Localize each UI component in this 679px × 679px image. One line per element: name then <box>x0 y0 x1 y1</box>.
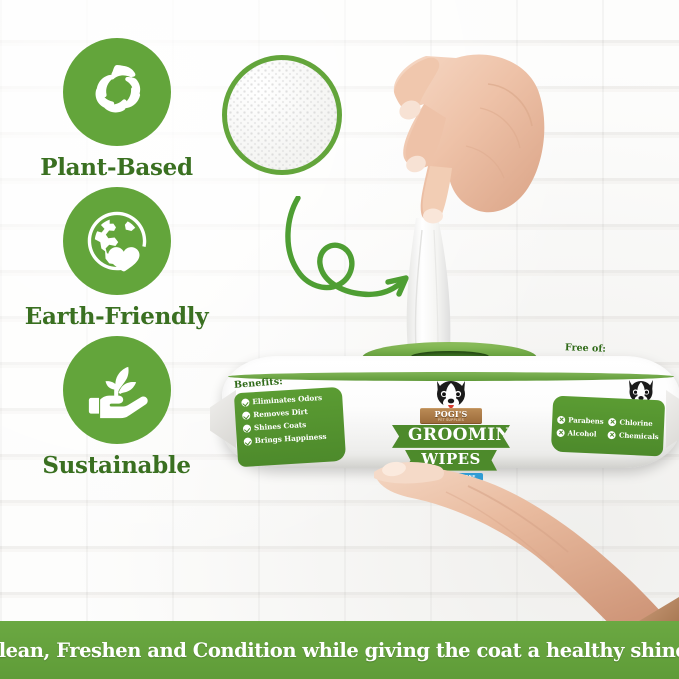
check-icon <box>242 411 250 419</box>
benefit-item: Shines Coats <box>243 419 338 433</box>
benefit-item: Removes Dirt <box>242 406 337 420</box>
feature-plant-based: Plant-Based <box>14 38 219 181</box>
brand-name: POGI'S <box>435 410 468 418</box>
benefit-label: Brings Happiness <box>255 433 327 445</box>
brand-tagline: PET SUPPLIES <box>438 419 464 422</box>
globe-heart-icon <box>81 205 153 277</box>
hand-pulling-wipe <box>338 38 553 378</box>
feature-earth-friendly: Earth-Friendly <box>14 187 219 330</box>
wipe-sheet <box>407 218 451 350</box>
free-of-item: Chlorine <box>608 417 659 428</box>
benefit-item: Brings Happiness <box>244 432 339 446</box>
benefit-item: Eliminates Odors <box>241 393 336 407</box>
benefit-label: Eliminates Odors <box>252 394 322 406</box>
package-right-seam <box>666 390 679 448</box>
hand-holding-package <box>372 452 679 637</box>
free-of-item: Alcohol <box>556 428 604 439</box>
free-of-list: Parabens Chlorine Alcohol Chemicals <box>556 415 659 441</box>
wipe-texture-pattern <box>227 60 337 170</box>
hand <box>394 55 545 224</box>
benefits-panel: Eliminates Odors Removes Dirt Shines Coa… <box>234 387 346 467</box>
benefits-list: Eliminates Odors Removes Dirt Shines Coa… <box>241 393 339 446</box>
feature-icon-circle <box>63 38 171 146</box>
banner-text: Clean, Freshen and Condition while givin… <box>0 639 679 662</box>
feature-label: Sustainable <box>42 452 190 479</box>
check-icon <box>243 424 251 432</box>
hand-sprout-icon <box>81 354 153 426</box>
free-of-panel: Parabens Chlorine Alcohol Chemicals <box>551 396 665 457</box>
wipes-package: Benefits: Eliminates Odors Removes Dirt … <box>222 342 679 470</box>
benefit-label: Shines Coats <box>254 421 307 431</box>
free-of-label: Chemicals <box>619 430 659 441</box>
check-icon <box>241 398 249 406</box>
x-mark-icon <box>557 428 565 436</box>
free-of-label: Parabens <box>568 415 604 426</box>
x-mark-icon <box>608 431 616 439</box>
feature-badge-list: Plant-Based Earth-Friendly <box>14 38 219 479</box>
free-of-item: Chemicals <box>608 430 659 441</box>
feature-icon-circle <box>63 187 171 295</box>
feature-sustainable: Sustainable <box>14 336 219 479</box>
free-of-label: Chlorine <box>619 418 652 428</box>
benefits-title: Benefits: <box>234 376 284 391</box>
leaf-recycle-icon <box>81 56 153 128</box>
product-marketing-image: Plant-Based Earth-Friendly <box>0 0 679 679</box>
feature-label: Plant-Based <box>40 154 193 181</box>
benefit-label: Removes Dirt <box>253 408 308 419</box>
x-mark-icon <box>608 418 616 426</box>
wipe-texture-zoom-callout <box>222 55 342 175</box>
boston-terrier-dog-icon <box>430 378 472 410</box>
x-mark-icon <box>557 415 565 423</box>
product-name-line-1: GROOMING <box>392 425 510 448</box>
bottom-banner: Clean, Freshen and Condition while givin… <box>0 621 679 679</box>
free-of-label: Alcohol <box>567 428 596 438</box>
free-of-item: Parabens <box>557 415 605 426</box>
wooden-sign: POGI'S PET SUPPLIES <box>420 408 482 424</box>
feature-icon-circle <box>63 336 171 444</box>
feature-label: Earth-Friendly <box>25 303 209 330</box>
free-of-title: Free of: <box>565 342 606 354</box>
check-icon <box>244 437 252 445</box>
